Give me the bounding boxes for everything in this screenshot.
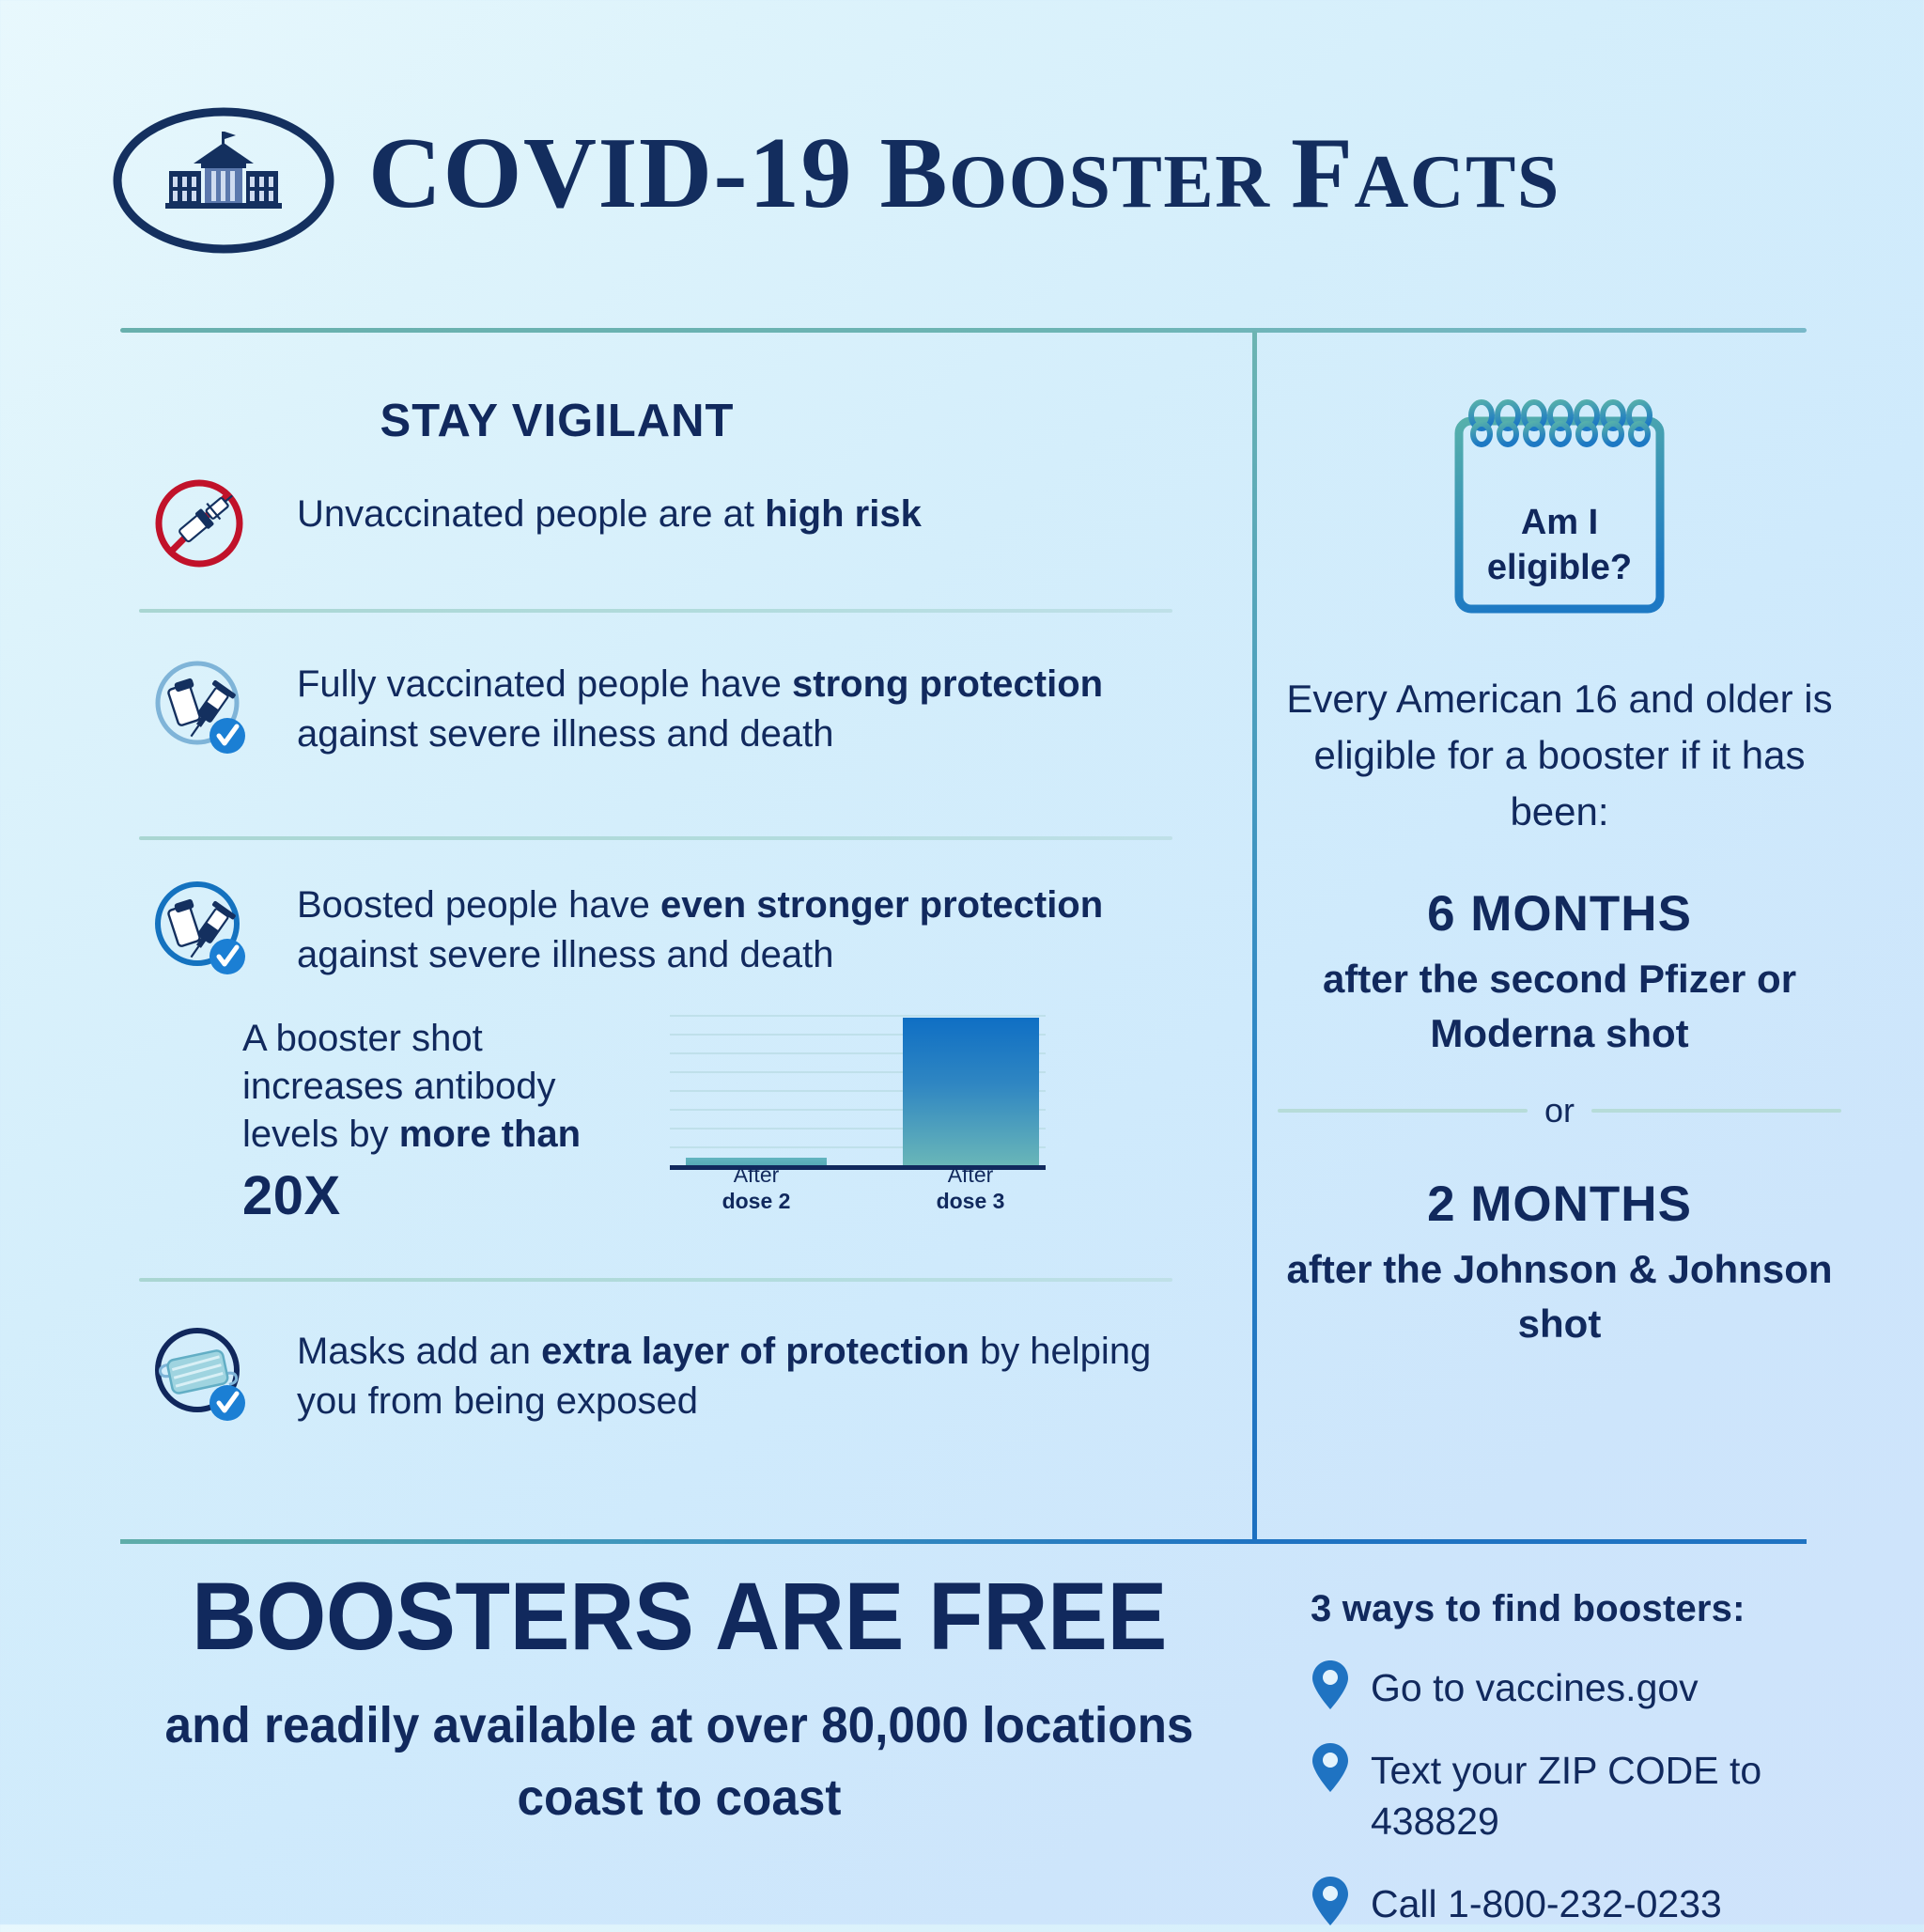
mask-check-icon bbox=[150, 1325, 248, 1423]
or-line-right bbox=[1591, 1109, 1841, 1113]
bar-label-line1: After bbox=[734, 1162, 780, 1187]
way-text: Text your ZIP CODE to 438829 bbox=[1371, 1741, 1837, 1846]
fact-row: Fully vaccinated people have strong prot… bbox=[150, 658, 1193, 759]
chart-caption-multiplier: 20X bbox=[242, 1161, 618, 1231]
or-line-left bbox=[1278, 1109, 1528, 1113]
fact-text-post: against severe illness and death bbox=[297, 934, 833, 975]
bar-label-line2: dose 3 bbox=[891, 1188, 1050, 1214]
option-a-duration: 6 MONTHS bbox=[1278, 885, 1841, 943]
section-title-stay-vigilant: STAY VIGILANT bbox=[120, 395, 994, 447]
fact-text: Unvaccinated people are at high risk bbox=[297, 490, 922, 539]
fact-text-bold: even stronger protection bbox=[660, 884, 1103, 926]
map-pin-icon bbox=[1311, 1659, 1350, 1711]
vaccinated-check-icon bbox=[150, 658, 248, 756]
eligibility-intro-text: Every American 16 and older is eligible … bbox=[1278, 671, 1841, 840]
title-text-segment-4: F bbox=[1291, 117, 1354, 229]
boosters-free-subtext: and readily available at over 80,000 loc… bbox=[148, 1690, 1211, 1833]
header-divider bbox=[120, 328, 1807, 333]
boosters-free-block: BOOSTERS ARE FREE and readily available … bbox=[120, 1560, 1238, 1834]
fact-row: Masks add an extra layer of protection b… bbox=[150, 1325, 1193, 1426]
way-text: Go to vaccines.gov bbox=[1371, 1659, 1699, 1713]
fact-row: Unvaccinated people are at high risk bbox=[150, 475, 1193, 572]
fact-text-pre: Fully vaccinated people have bbox=[297, 663, 792, 705]
bottom-section-divider bbox=[120, 1539, 1255, 1544]
title-text-segment-2: B bbox=[879, 117, 949, 229]
list-item[interactable]: Call 1-800-232-0233 bbox=[1311, 1875, 1837, 1929]
bar-after-dose-3 bbox=[903, 1018, 1039, 1165]
notepad-line2: eligible? bbox=[1487, 548, 1632, 587]
fact-text-post: against severe illness and death bbox=[297, 713, 833, 755]
option-a-description: after the second Pfizer or Moderna shot bbox=[1278, 952, 1841, 1061]
right-column: Am I eligible? Every American 16 and old… bbox=[1278, 395, 1841, 1351]
white-house-seal-icon bbox=[111, 105, 336, 256]
am-i-eligible-notepad-icon: Am I eligible? bbox=[1442, 395, 1677, 630]
title-text-segment-5: ACTS bbox=[1354, 141, 1559, 224]
or-label: or bbox=[1544, 1091, 1575, 1130]
bar-label-line1: After bbox=[948, 1162, 994, 1187]
page-header: COVID-19 BOOSTER FACTS bbox=[0, 0, 1924, 282]
ways-section-divider bbox=[1255, 1539, 1807, 1544]
ways-title: 3 ways to find boosters: bbox=[1311, 1588, 1837, 1630]
title-text-segment-3: OOSTER bbox=[949, 141, 1291, 224]
fact-separator bbox=[139, 609, 1172, 613]
list-item[interactable]: Text your ZIP CODE to 438829 bbox=[1311, 1741, 1837, 1846]
chart-caption-bold: more than bbox=[399, 1114, 581, 1155]
fact-text: Fully vaccinated people have strong prot… bbox=[297, 660, 1193, 759]
fact-text-bold: high risk bbox=[765, 493, 922, 535]
antibody-chart-block: A booster shot increases antibody levels… bbox=[242, 1015, 1191, 1231]
fact-text: Masks add an extra layer of protection b… bbox=[297, 1327, 1193, 1426]
map-pin-icon bbox=[1311, 1875, 1350, 1927]
fact-text-bold: extra layer of protection bbox=[541, 1331, 970, 1372]
bar-label-line2: dose 2 bbox=[676, 1188, 836, 1214]
fact-text-pre: Masks add an bbox=[297, 1331, 541, 1372]
boosters-free-headline: BOOSTERS ARE FREE bbox=[154, 1560, 1205, 1673]
way-text: Call 1-800-232-0233 bbox=[1371, 1875, 1722, 1929]
page-title: COVID-19 BOOSTER FACTS bbox=[368, 113, 1871, 235]
bar-label-after-dose-3: After dose 3 bbox=[891, 1161, 1050, 1214]
option-b-duration: 2 MONTHS bbox=[1278, 1176, 1841, 1233]
left-column: STAY VIGILANT Unvaccinated people are at… bbox=[120, 357, 1229, 1532]
notepad-line1: Am I bbox=[1521, 503, 1598, 542]
ways-to-find-boosters: 3 ways to find boosters: Go to vaccines.… bbox=[1311, 1588, 1837, 1929]
option-b-description: after the Johnson & Johnson shot bbox=[1278, 1242, 1841, 1351]
map-pin-icon bbox=[1311, 1741, 1350, 1794]
title-text-segment-1: COVID-19 bbox=[368, 117, 879, 229]
no-vaccine-icon bbox=[150, 475, 248, 572]
fact-text-pre: Unvaccinated people are at bbox=[297, 493, 765, 535]
fact-text-pre: Boosted people have bbox=[297, 884, 660, 926]
antibody-bar-chart: After dose 2 After dose 3 bbox=[670, 1015, 1046, 1212]
boosted-check-icon bbox=[150, 879, 248, 976]
chart-caption: A booster shot increases antibody levels… bbox=[242, 1015, 618, 1231]
column-divider bbox=[1252, 331, 1257, 1543]
fact-text: Boosted people have even stronger protec… bbox=[297, 880, 1193, 980]
bar-label-after-dose-2: After dose 2 bbox=[676, 1161, 836, 1214]
list-item[interactable]: Go to vaccines.gov bbox=[1311, 1659, 1837, 1713]
fact-row: Boosted people have even stronger protec… bbox=[150, 879, 1193, 980]
fact-text-bold: strong protection bbox=[792, 663, 1103, 705]
fact-separator bbox=[139, 836, 1172, 840]
or-divider: or bbox=[1278, 1091, 1841, 1130]
fact-separator bbox=[139, 1278, 1172, 1282]
